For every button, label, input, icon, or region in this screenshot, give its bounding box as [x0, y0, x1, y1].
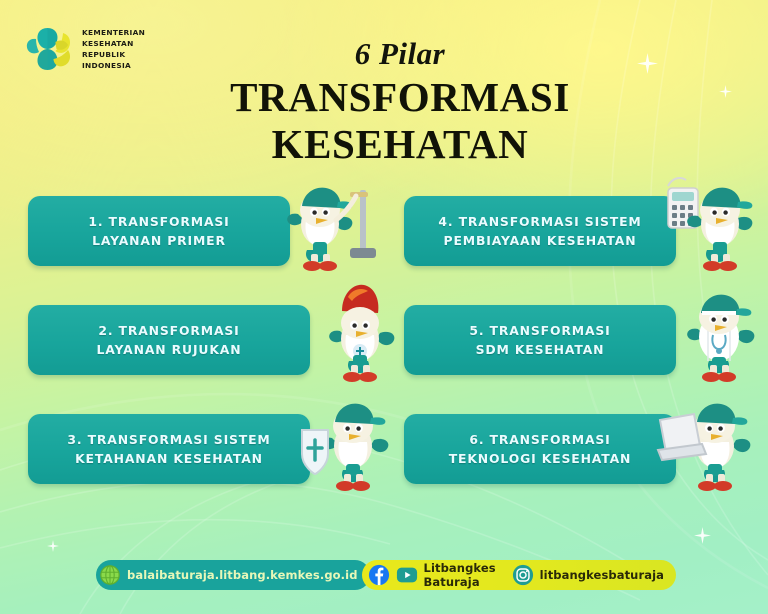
kemenkes-ri-logo-icon: [24, 24, 74, 74]
facebook-icon[interactable]: [368, 564, 390, 586]
pillars-grid: 1. TRANSFORMASI LAYANAN PRIMER: [0, 196, 768, 523]
page-title: 6 Pilar TRANSFORMASI KESEHATAN: [180, 36, 620, 168]
footer-website-group[interactable]: balaibaturaja.litbang.kemkes.go.id: [96, 560, 370, 590]
pillar-card-3[interactable]: 3. TRANSFORMASI SISTEM KETAHANAN KESEHAT…: [28, 414, 310, 484]
ministry-logo-block: KEMENTERIAN KESEHATAN REPUBLIK INDONESIA: [24, 24, 145, 74]
pillar-card-5[interactable]: 5. TRANSFORMASI SDM KESEHATAN: [404, 305, 676, 375]
pillar-cell-1: 1. TRANSFORMASI LAYANAN PRIMER: [28, 196, 378, 266]
pillar-cell-2: 2. TRANSFORMASI LAYANAN RUJUKAN: [28, 305, 378, 375]
sparkle-icon: [694, 527, 711, 544]
pillar-label-1: 1. TRANSFORMASI LAYANAN PRIMER: [78, 212, 239, 250]
youtube-icon[interactable]: [396, 564, 418, 586]
pillar-cell-5: 5. TRANSFORMASI SDM KESEHATAN: [398, 305, 748, 375]
globe-icon: [99, 564, 121, 586]
footer-website-text: balaibaturaja.litbang.kemkes.go.id: [127, 568, 358, 582]
title-main: TRANSFORMASI KESEHATAN: [180, 74, 620, 168]
pillar-cell-4: 4. TRANSFORMASI SISTEM PEMBIAYAAN KESEHA…: [398, 196, 748, 266]
instagram-icon[interactable]: [512, 564, 534, 586]
pillar-cell-6: 6. TRANSFORMASI TEKNOLOGI KESEHATAN: [398, 414, 748, 484]
footer-contact-bar: balaibaturaja.litbang.kemkes.go.id Litba…: [96, 560, 676, 590]
bird-mascot-height-measure-icon: [280, 176, 388, 280]
sparkle-icon: [637, 53, 658, 74]
pillar-label-4: 4. TRANSFORMASI SISTEM PEMBIAYAAN KESEHA…: [428, 212, 651, 250]
pillar-cell-3: 3. TRANSFORMASI SISTEM KETAHANAN KESEHAT…: [28, 414, 378, 484]
pillar-card-1[interactable]: 1. TRANSFORMASI LAYANAN PRIMER: [28, 196, 290, 266]
ministry-logo-text: KEMENTERIAN KESEHATAN REPUBLIK INDONESIA: [82, 27, 145, 72]
pillar-card-2[interactable]: 2. TRANSFORMASI LAYANAN RUJUKAN: [28, 305, 310, 375]
sparkle-icon: [719, 85, 732, 98]
title-main-line1: TRANSFORMASI: [180, 74, 620, 121]
pillar-label-5: 5. TRANSFORMASI SDM KESEHATAN: [459, 321, 620, 359]
pillar-label-2: 2. TRANSFORMASI LAYANAN RUJUKAN: [87, 321, 252, 359]
pillar-row: 1. TRANSFORMASI LAYANAN PRIMER: [0, 196, 768, 305]
footer-instagram-handle: litbangkesbaturaja: [540, 568, 664, 582]
pillar-row: 3. TRANSFORMASI SISTEM KETAHANAN KESEHAT…: [0, 414, 768, 523]
title-eyebrow: 6 Pilar: [180, 36, 620, 72]
pillar-label-3: 3. TRANSFORMASI SISTEM KETAHANAN KESEHAT…: [57, 430, 280, 468]
pillar-row: 2. TRANSFORMASI LAYANAN RUJUKAN: [0, 305, 768, 414]
footer-social-handle: Litbangkes Baturaja: [424, 561, 506, 589]
pillar-card-6[interactable]: 6. TRANSFORMASI TEKNOLOGI KESEHATAN: [404, 414, 676, 484]
sparkle-icon: [47, 540, 59, 552]
pillar-card-4[interactable]: 4. TRANSFORMASI SISTEM PEMBIAYAAN KESEHA…: [404, 196, 676, 266]
footer-social-group[interactable]: Litbangkes Baturaja litbangkesbaturaja: [362, 560, 676, 590]
pillar-label-6: 6. TRANSFORMASI TEKNOLOGI KESEHATAN: [439, 430, 642, 468]
title-main-line2: KESEHATAN: [180, 121, 620, 168]
